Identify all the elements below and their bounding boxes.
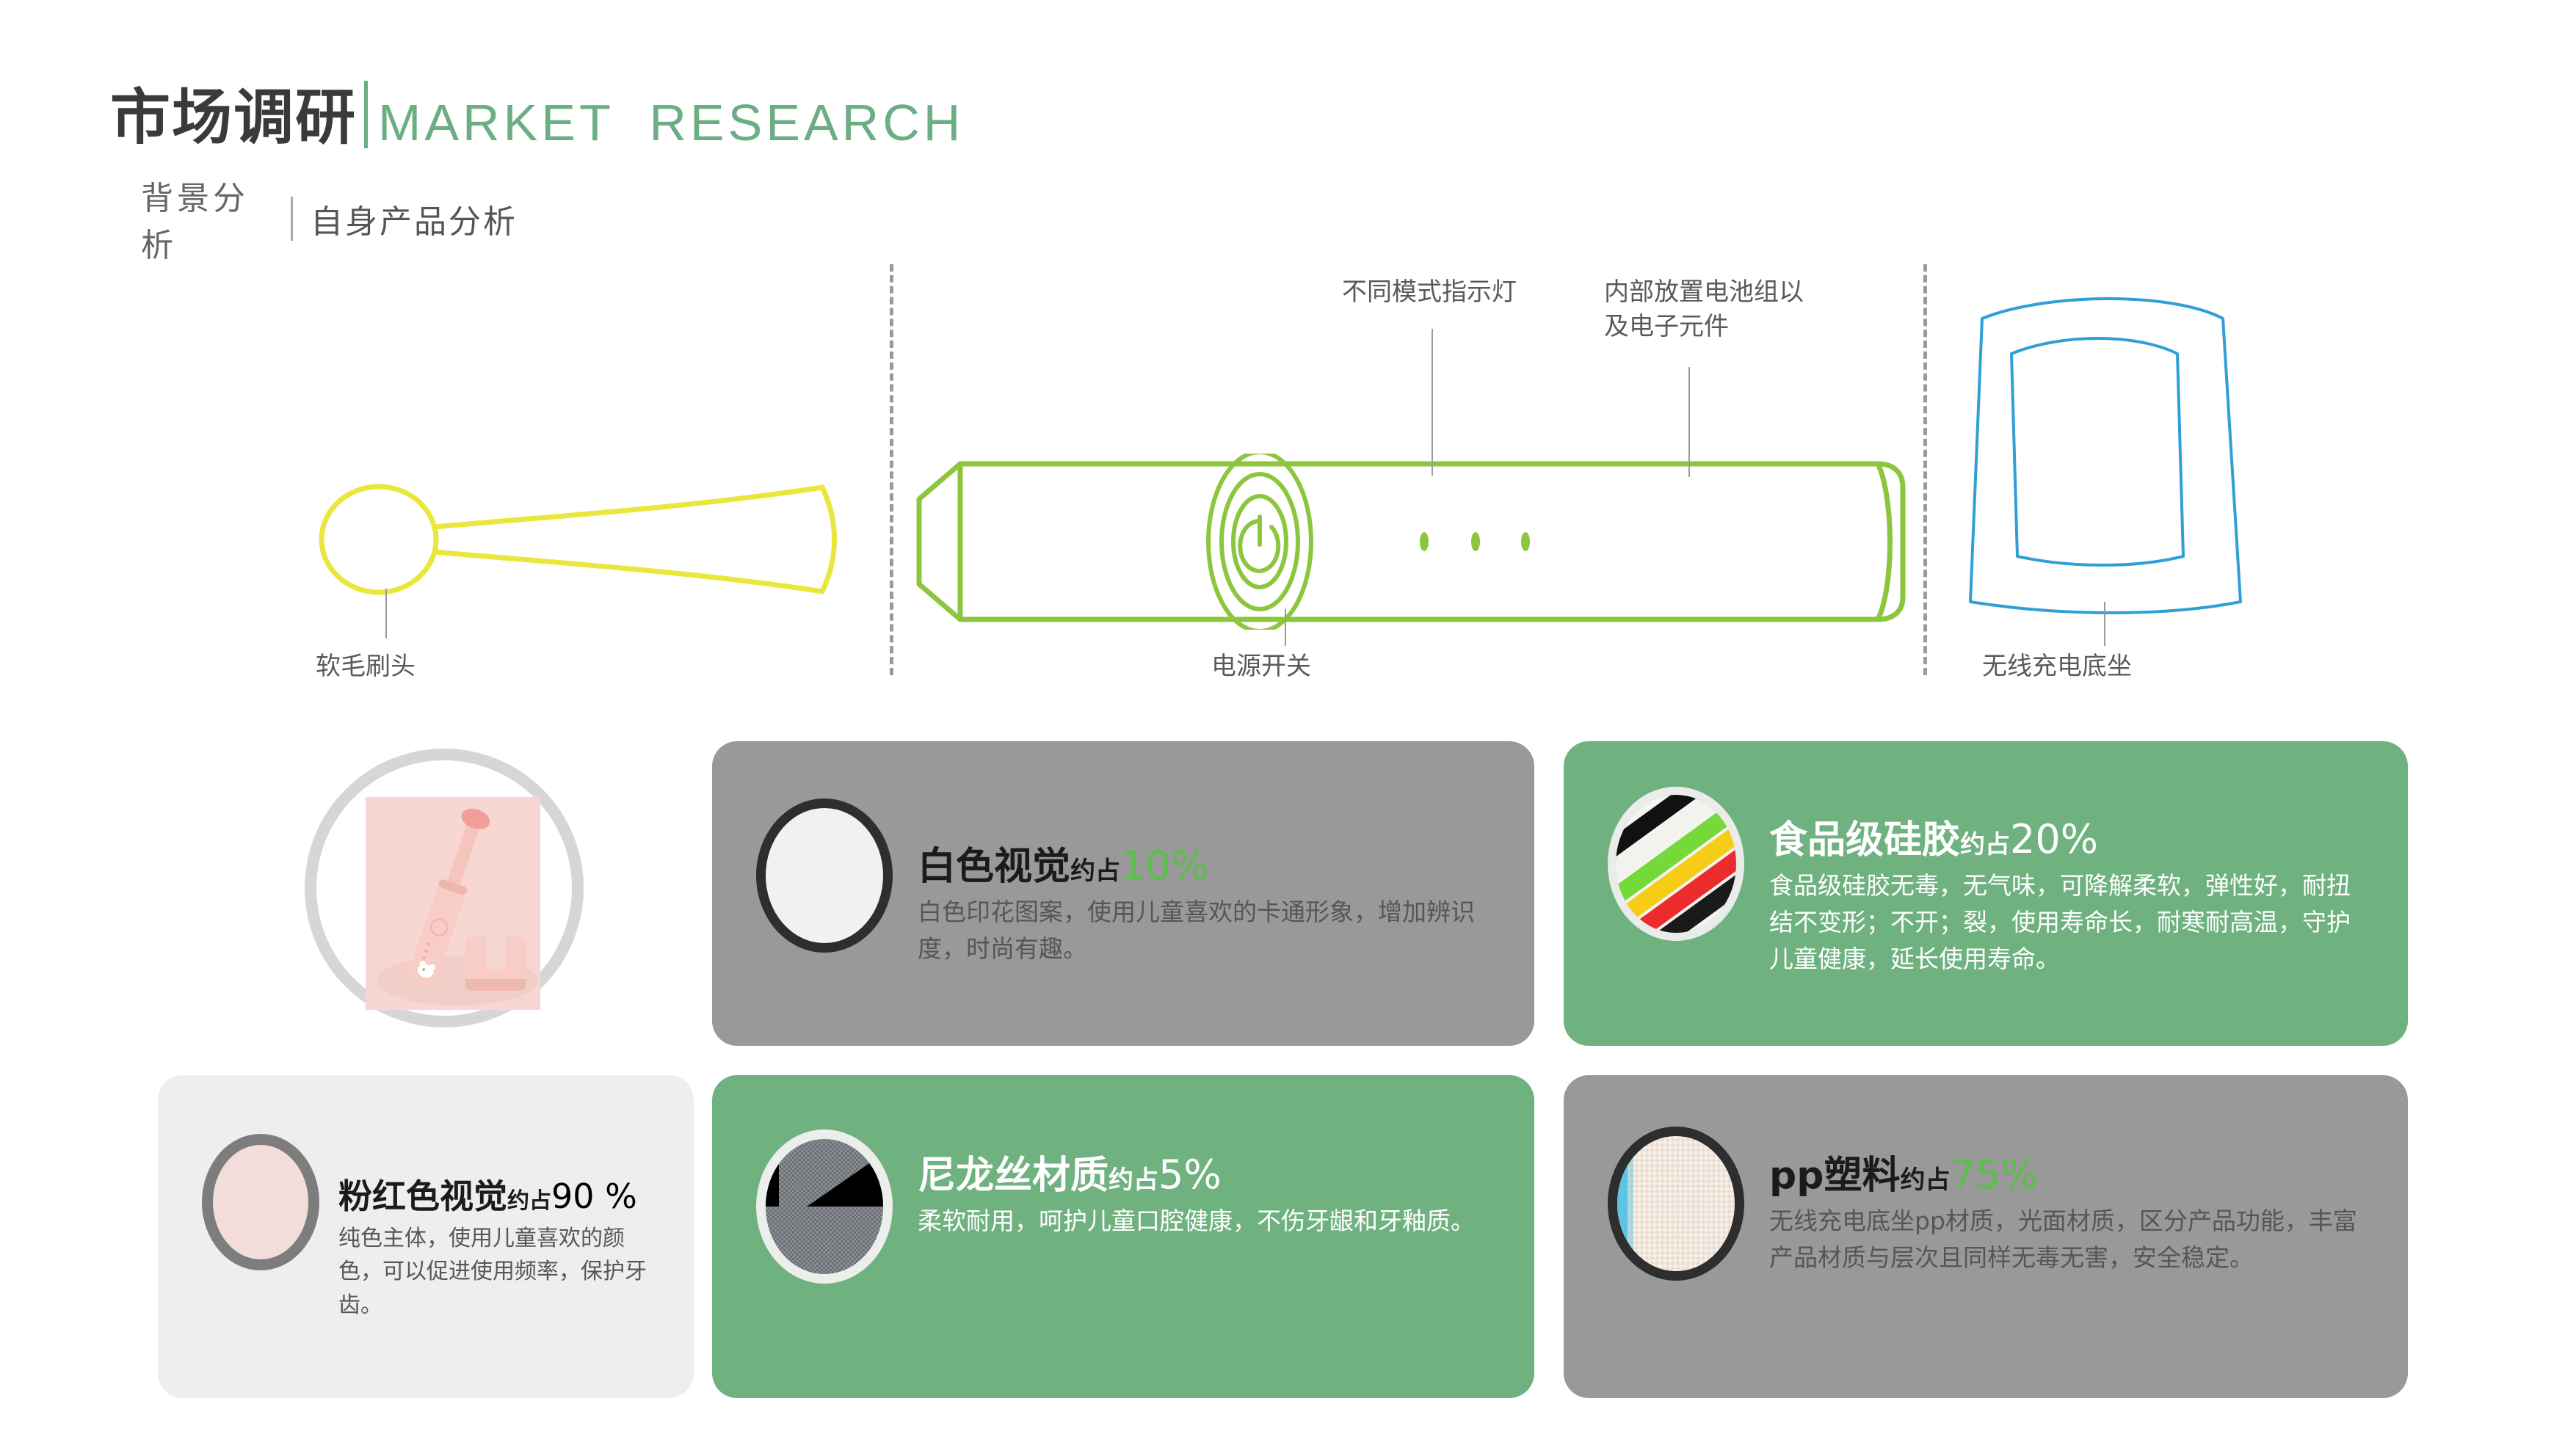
label-power-switch: 电源开关	[1211, 646, 1311, 682]
card-silicone-heading: 食品级硅胶约占20%	[1769, 819, 2364, 860]
card-heading-name: 白色视觉	[918, 845, 1070, 889]
card-heading-name: 尼龙丝材质	[918, 1154, 1109, 1198]
page-title-en: MARKET RESEARCH	[378, 97, 964, 148]
card-heading-name: 食品级硅胶	[1769, 818, 1960, 862]
card-heading-about: 约占	[1960, 830, 2010, 859]
label-wireless-charging-base: 无线充电底坐	[1982, 646, 2132, 682]
white-circle-swatch	[756, 798, 893, 953]
leader-line-mode-indicator	[1432, 329, 1433, 476]
card-heading-percent: 5%	[1158, 1152, 1222, 1198]
pink-circle-swatch	[202, 1134, 319, 1270]
card-heading-percent: 10%	[1120, 843, 1208, 889]
card-food-grade-silicone-body: 食品级硅胶约占20% 食品级硅胶无毒，无气味，可降解柔软，弹性好，耐扭结不变形；…	[1769, 771, 2364, 978]
card-heading-percent: 90 %	[551, 1176, 637, 1216]
card-pink-visual-body: 粉红色视觉约占90 % 纯色主体，使用儿童喜欢的颜色，可以促进使用频率，保护牙齿…	[338, 1116, 664, 1323]
subtitle-product-analysis: 自身产品分析	[311, 195, 518, 242]
pp-pellets-swatch	[1608, 1127, 1744, 1281]
card-food-grade-silicone[interactable]: 食品级硅胶约占20% 食品级硅胶无毒，无气味，可降解柔软，弹性好，耐扭结不变形；…	[1564, 741, 2408, 1046]
card-pink-visual[interactable]: 粉红色视觉约占90 % 纯色主体，使用儿童喜欢的颜色，可以促进使用频率，保护牙齿…	[158, 1075, 694, 1398]
card-pink-visual-heading: 粉红色视觉约占90 %	[338, 1179, 664, 1215]
colored-silicone-rods-swatch	[1608, 787, 1744, 941]
diagram-divider-right	[1923, 264, 1927, 675]
subtitle-background-analysis: 背景分析	[110, 172, 280, 266]
card-white-visual-heading: 白色视觉约占10%	[918, 845, 1490, 887]
leader-line-brush-head	[385, 589, 387, 638]
leader-line-charging-base	[2104, 602, 2105, 646]
annotation-mode-indicator-light: 不同模式指示灯	[1323, 275, 1536, 310]
card-heading-about: 约占	[1900, 1165, 1950, 1195]
card-heading-about: 约占	[1109, 1165, 1158, 1195]
card-pp-plastic-body: pp塑料约占75% 无线充电底坐pp材质，光面材质，区分产品功能，丰富产品材质与…	[1769, 1116, 2364, 1276]
leader-line-power-switch	[1285, 609, 1286, 646]
title-row: 市场调研 MARKET RESEARCH	[110, 81, 964, 148]
card-food-grade-silicone-description: 食品级硅胶无毒，无气味，可降解柔软，弹性好，耐扭结不变形；不开；裂，使用寿命长，…	[1769, 867, 2364, 978]
card-nylon-heading: 尼龙丝材质约占5%	[918, 1154, 1490, 1196]
card-nylon-filament[interactable]: 尼龙丝材质约占5% 柔软耐用，呵护儿童口腔健康，不伤牙龈和牙釉质。	[712, 1075, 1534, 1398]
product-exploded-diagram: 不同模式指示灯 内部放置电池组以 及电子元件 软毛刷头 电源开关 无线充电底坐	[0, 264, 2576, 675]
page-header: 市场调研 MARKET RESEARCH 背景分析 自身产品分析	[110, 81, 964, 266]
card-heading-percent: 75%	[1950, 1152, 2038, 1198]
charging-base-illustration	[1953, 272, 2261, 616]
product-photo-ring	[305, 749, 584, 1027]
card-nylon-filament-body: 尼龙丝材质约占5% 柔软耐用，呵护儿童口腔健康，不伤牙龈和牙釉质。	[918, 1116, 1490, 1240]
card-white-visual-body: 白色视觉约占10% 白色印花图案，使用儿童喜欢的卡通形象，增加辨识度，时尚有趣。	[918, 782, 1490, 967]
card-heading-name: 粉红色视觉	[338, 1176, 507, 1216]
nylon-fabric-swatch	[756, 1129, 893, 1284]
card-white-visual-description: 白色印花图案，使用儿童喜欢的卡通形象，增加辨识度，时尚有趣。	[918, 894, 1490, 967]
card-pink-visual-description: 纯色主体，使用儿童喜欢的颜色，可以促进使用频率，保护牙齿。	[338, 1222, 664, 1323]
card-pp-plastic-description: 无线充电底坐pp材质，光面材质，区分产品功能，丰富产品材质与层次且同样无毒无害，…	[1769, 1203, 2364, 1276]
title-divider	[364, 81, 368, 148]
subtitle-row: 背景分析 自身产品分析	[110, 172, 964, 266]
card-heading-name: pp塑料	[1769, 1154, 1900, 1198]
subtitle-divider	[291, 197, 293, 241]
card-pp-plastic[interactable]: pp塑料约占75% 无线充电底坐pp材质，光面材质，区分产品功能，丰富产品材质与…	[1564, 1075, 2408, 1398]
handle-body-illustration	[910, 454, 1916, 630]
card-nylon-filament-description: 柔软耐用，呵护儿童口腔健康，不伤牙龈和牙釉质。	[918, 1203, 1490, 1240]
card-pp-plastic-heading: pp塑料约占75%	[1769, 1154, 2364, 1196]
card-heading-about: 约占	[1070, 856, 1120, 886]
page-title-cn: 市场调研	[110, 88, 357, 148]
annotation-battery-electronics: 内部放置电池组以 及电子元件	[1604, 275, 1846, 344]
label-soft-bristle-head: 软毛刷头	[316, 646, 416, 682]
brush-head-illustration	[308, 455, 903, 624]
material-breakdown-cards: 白色视觉约占10% 白色印花图案，使用儿童喜欢的卡通形象，增加辨识度，时尚有趣。	[0, 734, 2576, 1409]
leader-line-battery-electronics	[1688, 367, 1690, 477]
card-white-visual[interactable]: 白色视觉约占10% 白色印花图案，使用儿童喜欢的卡通形象，增加辨识度，时尚有趣。	[712, 741, 1534, 1046]
pink-electric-toothbrush-photo	[366, 797, 540, 1010]
card-heading-about: 约占	[507, 1188, 551, 1214]
card-heading-percent: 20%	[2010, 816, 2098, 862]
